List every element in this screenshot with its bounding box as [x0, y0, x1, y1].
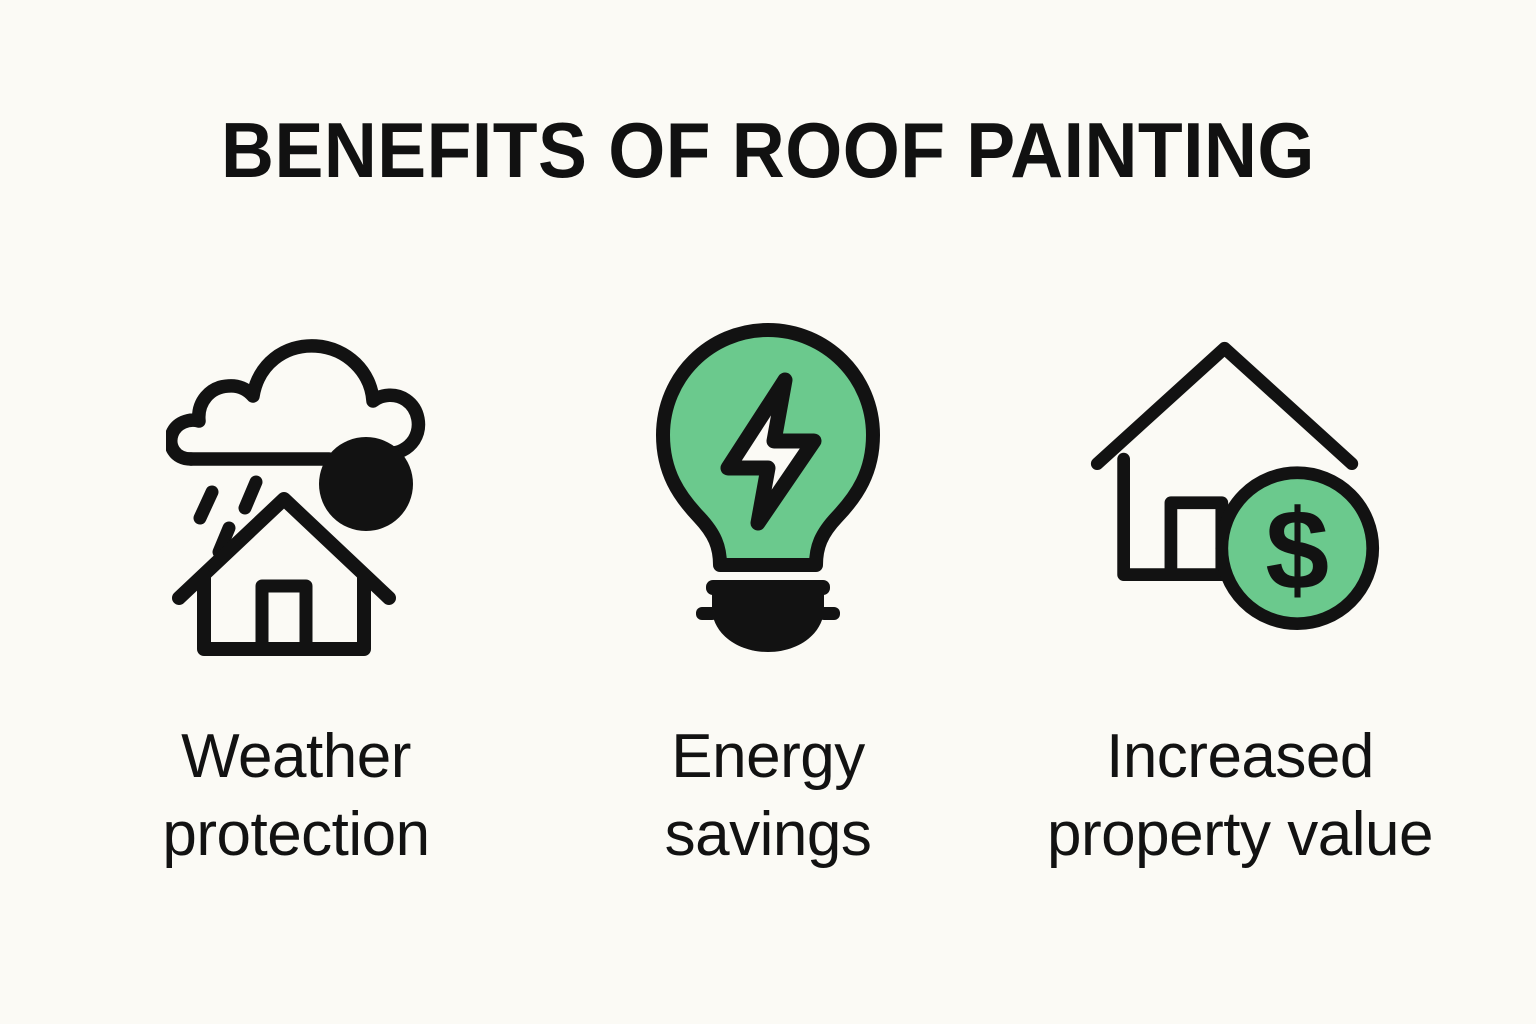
benefit-label-line-1: Energy: [671, 722, 864, 791]
benefit-label-line-1: Weather: [181, 722, 411, 791]
page-title: BENEFITS OF ROOF PAINTING: [46, 108, 1490, 192]
benefit-card-increased-property-value: $ Increased property value: [1004, 300, 1476, 874]
house-rain-cloud-icon: [146, 300, 446, 680]
benefits-row: Weather protection Ener: [60, 300, 1476, 874]
benefit-label-line-2: protection: [162, 800, 429, 869]
lightbulb-lightning-icon: [618, 300, 918, 680]
infographic-canvas: BENEFITS OF ROOF PAINTING: [0, 0, 1536, 1024]
benefit-label-line-2: property value: [1047, 800, 1433, 869]
benefit-label-energy-savings: Energy savings: [665, 718, 872, 874]
benefit-label-line-2: savings: [665, 800, 872, 869]
dollar-sign-glyph: $: [1265, 486, 1329, 614]
house-dollar-coin-icon: $: [1090, 300, 1390, 680]
benefit-label-line-1: Increased: [1106, 722, 1374, 791]
benefit-card-energy-savings: Energy savings: [532, 300, 1004, 874]
benefit-label-increased-property-value: Increased property value: [1047, 718, 1433, 874]
benefit-label-weather-protection: Weather protection: [162, 718, 429, 874]
benefit-card-weather-protection: Weather protection: [60, 300, 532, 874]
